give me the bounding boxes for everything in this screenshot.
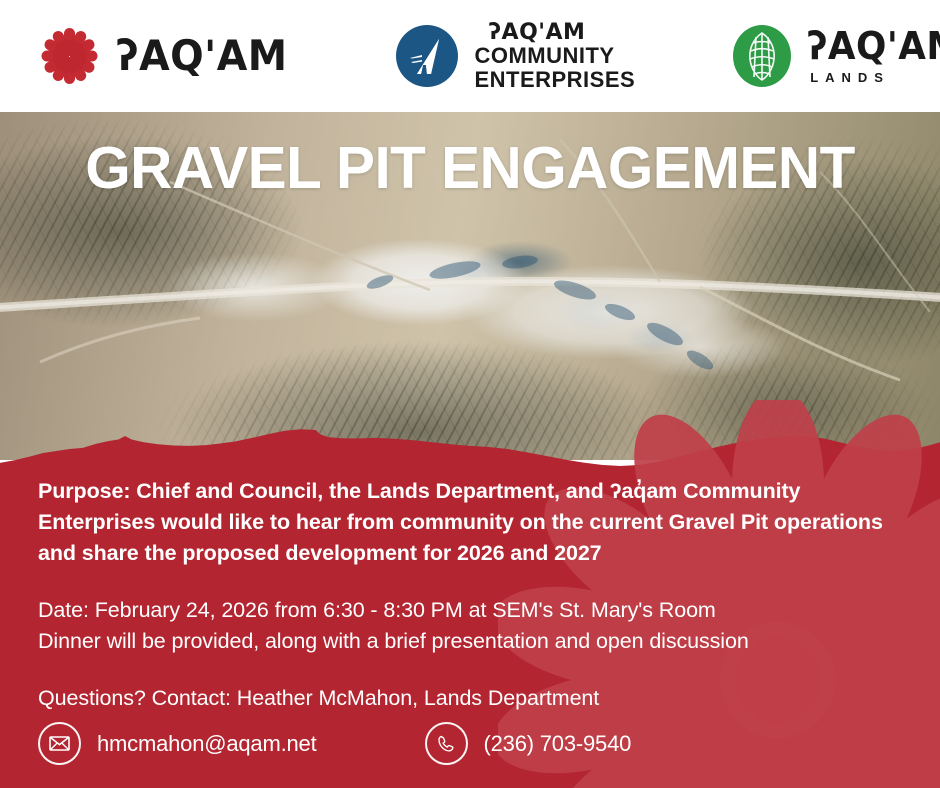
- phone-icon: [425, 722, 468, 765]
- ace-wordmark-line1: ʔAQ'AM: [488, 21, 635, 44]
- lands-subtext: LANDS: [807, 70, 940, 85]
- poster-root: ʔAQ'AM ʔAQ'AM COMMUNITY ENTERPRISE: [0, 0, 940, 788]
- lands-wordmark: ʔAQ'AM: [807, 27, 940, 65]
- ace-wordmark-line2: COMMUNITY: [474, 44, 635, 67]
- aqam-lands-logo: ʔAQ'AM LANDS: [733, 25, 940, 87]
- phone-contact[interactable]: (236) 703-9540: [425, 722, 632, 765]
- envelope-icon: [38, 722, 81, 765]
- date-line-1: Date: February 24, 2026 from 6:30 - 8:30…: [38, 595, 900, 626]
- logo-bar: ʔAQ'AM ʔAQ'AM COMMUNITY ENTERPRISE: [0, 0, 940, 112]
- email-address[interactable]: hmcmahon@aqam.net: [97, 731, 317, 757]
- ace-wordmark-line3: ENTERPRISES: [474, 68, 635, 91]
- aqam-community-enterprises-logo: ʔAQ'AM COMMUNITY ENTERPRISES: [396, 21, 635, 91]
- phone-number[interactable]: (236) 703-9540: [484, 731, 632, 757]
- blue-circle-arrowhead-icon: [396, 25, 458, 87]
- lands-wordmark-stack: ʔAQ'AM LANDS: [807, 27, 940, 85]
- aqam-nation-wordmark: ʔAQ'AM: [116, 35, 287, 77]
- green-circle-pinecone-icon: [733, 25, 791, 87]
- ace-wordmark-stack: ʔAQ'AM COMMUNITY ENTERPRISES: [474, 21, 635, 91]
- contact-row: hmcmahon@aqam.net (236) 703-9540: [38, 722, 631, 765]
- page-title: GRAVEL PIT ENGAGEMENT: [5, 139, 936, 198]
- questions-line: Questions? Contact: Heather McMahon, Lan…: [38, 683, 900, 714]
- red-rosette-icon: [38, 25, 100, 87]
- body-copy: Purpose: Chief and Council, the Lands De…: [38, 476, 900, 714]
- date-line-2: Dinner will be provided, along with a br…: [38, 626, 900, 657]
- email-contact[interactable]: hmcmahon@aqam.net: [38, 722, 317, 765]
- purpose-paragraph: Purpose: Chief and Council, the Lands De…: [38, 476, 883, 569]
- aqam-nation-logo: ʔAQ'AM: [38, 25, 298, 87]
